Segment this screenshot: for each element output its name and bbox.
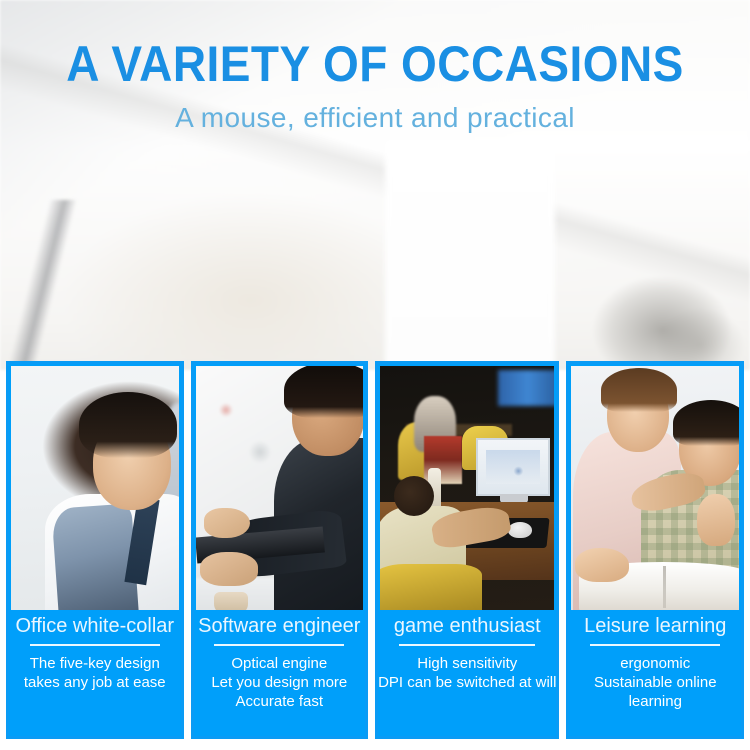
caption-divider [590, 644, 720, 646]
description-line: DPI can be switched at will [378, 673, 556, 692]
caption-divider [399, 644, 535, 646]
head-shape [394, 476, 434, 516]
heading-block: A VARIETY OF OCCASIONS A mouse, efficien… [0, 0, 750, 134]
description-line: Optical engine [194, 654, 366, 673]
game-enthusiast-photo [380, 366, 554, 610]
background-shadow-streak [0, 200, 110, 375]
occasion-card-office-white-collar[interactable]: Office white-collar The five-key design … [6, 361, 184, 739]
occasion-card-leisure-learning[interactable]: Leisure learning ergonomic Sustainable o… [566, 361, 744, 739]
occasion-title: game enthusiast [378, 613, 556, 639]
background-light-shape [498, 370, 554, 406]
description-line: ergonomic [569, 654, 741, 673]
foreground-chair-shape [380, 564, 482, 610]
hand-shape [200, 552, 258, 586]
occasion-description: The five-key design takes any job at eas… [9, 654, 181, 692]
description-line: Sustainable online [569, 673, 741, 692]
occasion-caption: Software engineer Optical engine Let you… [194, 610, 366, 736]
description-line: Accurate fast [194, 692, 366, 711]
hair-shape [673, 400, 739, 446]
occasion-description: Optical engine Let you design more Accur… [194, 654, 366, 711]
mouse-shape [508, 522, 532, 538]
occasion-caption: Office white-collar The five-key design … [9, 610, 181, 736]
leisure-learning-photo [571, 366, 739, 610]
occasion-description: High sensitivity DPI can be switched at … [378, 654, 556, 692]
occasion-title: Office white-collar [9, 613, 181, 639]
occasion-title: Software engineer [194, 613, 366, 639]
hands-shape [697, 494, 735, 546]
occasion-caption: game enthusiast High sensitivity DPI can… [378, 610, 556, 736]
occasion-card-game-enthusiast[interactable]: game enthusiast High sensitivity DPI can… [375, 361, 559, 739]
office-white-collar-photo [11, 366, 179, 610]
monitor-shape [476, 438, 550, 496]
page-subtitle: A mouse, efficient and practical [0, 90, 750, 134]
hand-shape [204, 508, 250, 538]
hand-shape [575, 548, 629, 582]
occasion-title: Leisure learning [569, 613, 741, 639]
hair-shape [79, 392, 177, 458]
hair-shape [601, 368, 677, 412]
cup-shape [214, 592, 248, 610]
description-line: High sensitivity [378, 654, 556, 673]
description-line: learning [569, 692, 741, 711]
description-line: The five-key design [9, 654, 181, 673]
description-line: takes any job at ease [9, 673, 181, 692]
promo-banner: A VARIETY OF OCCASIONS A mouse, efficien… [0, 0, 750, 750]
occasion-description: ergonomic Sustainable online learning [569, 654, 741, 711]
software-engineer-photo [196, 366, 364, 610]
occasion-card-row: Office white-collar The five-key design … [6, 361, 744, 739]
hair-shape [284, 366, 364, 418]
caption-divider [30, 644, 160, 646]
vest-shape [51, 503, 138, 610]
background-light-panel [385, 140, 555, 370]
occasion-caption: Leisure learning ergonomic Sustainable o… [569, 610, 741, 736]
caption-divider [214, 644, 344, 646]
page-title: A VARIETY OF OCCASIONS [30, 0, 720, 90]
description-line: Let you design more [194, 673, 366, 692]
occasion-card-software-engineer[interactable]: Software engineer Optical engine Let you… [191, 361, 369, 739]
